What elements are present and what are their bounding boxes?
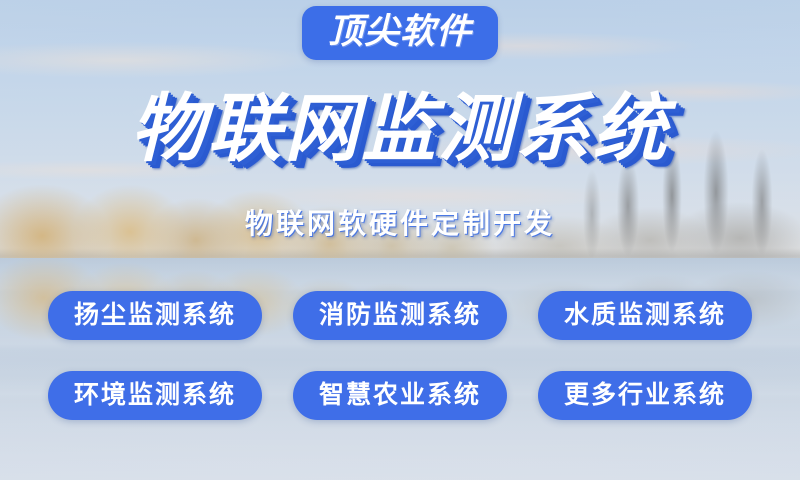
banner-title-text: 物联网监测系统 [131,88,670,170]
brand-badge-label: 顶尖软件 [328,13,472,51]
pill-label: 环境监测系统 [74,382,236,409]
banner-subtitle: 物联网软硬件定制开发 [0,207,800,241]
brand-badge: 顶尖软件 [302,6,498,60]
system-pill-grid: 扬尘监测系统 消防监测系统 水质监测系统 环境监测系统 智慧农业系统 更多行业系… [48,291,752,420]
pill-water-quality-monitoring[interactable]: 水质监测系统 [538,291,752,340]
banner-title: 物联网监测系统 [0,88,800,170]
pill-dust-monitoring[interactable]: 扬尘监测系统 [48,291,262,340]
banner-subtitle-text: 物联网软硬件定制开发 [245,208,555,239]
pill-label: 消防监测系统 [319,302,481,329]
pill-smart-agriculture[interactable]: 智慧农业系统 [293,371,507,420]
pill-environment-monitoring[interactable]: 环境监测系统 [48,371,262,420]
pill-label: 扬尘监测系统 [74,302,236,329]
pill-more-industry-systems[interactable]: 更多行业系统 [538,371,752,420]
pill-label: 更多行业系统 [564,382,726,409]
banner-content: 顶尖软件 物联网监测系统 物联网软硬件定制开发 扬尘监测系统 消防监测系统 水质… [0,0,800,480]
pill-fire-monitoring[interactable]: 消防监测系统 [293,291,507,340]
promo-banner: 顶尖软件 物联网监测系统 物联网软硬件定制开发 扬尘监测系统 消防监测系统 水质… [0,0,800,480]
pill-label: 智慧农业系统 [319,382,481,409]
pill-label: 水质监测系统 [564,302,726,329]
